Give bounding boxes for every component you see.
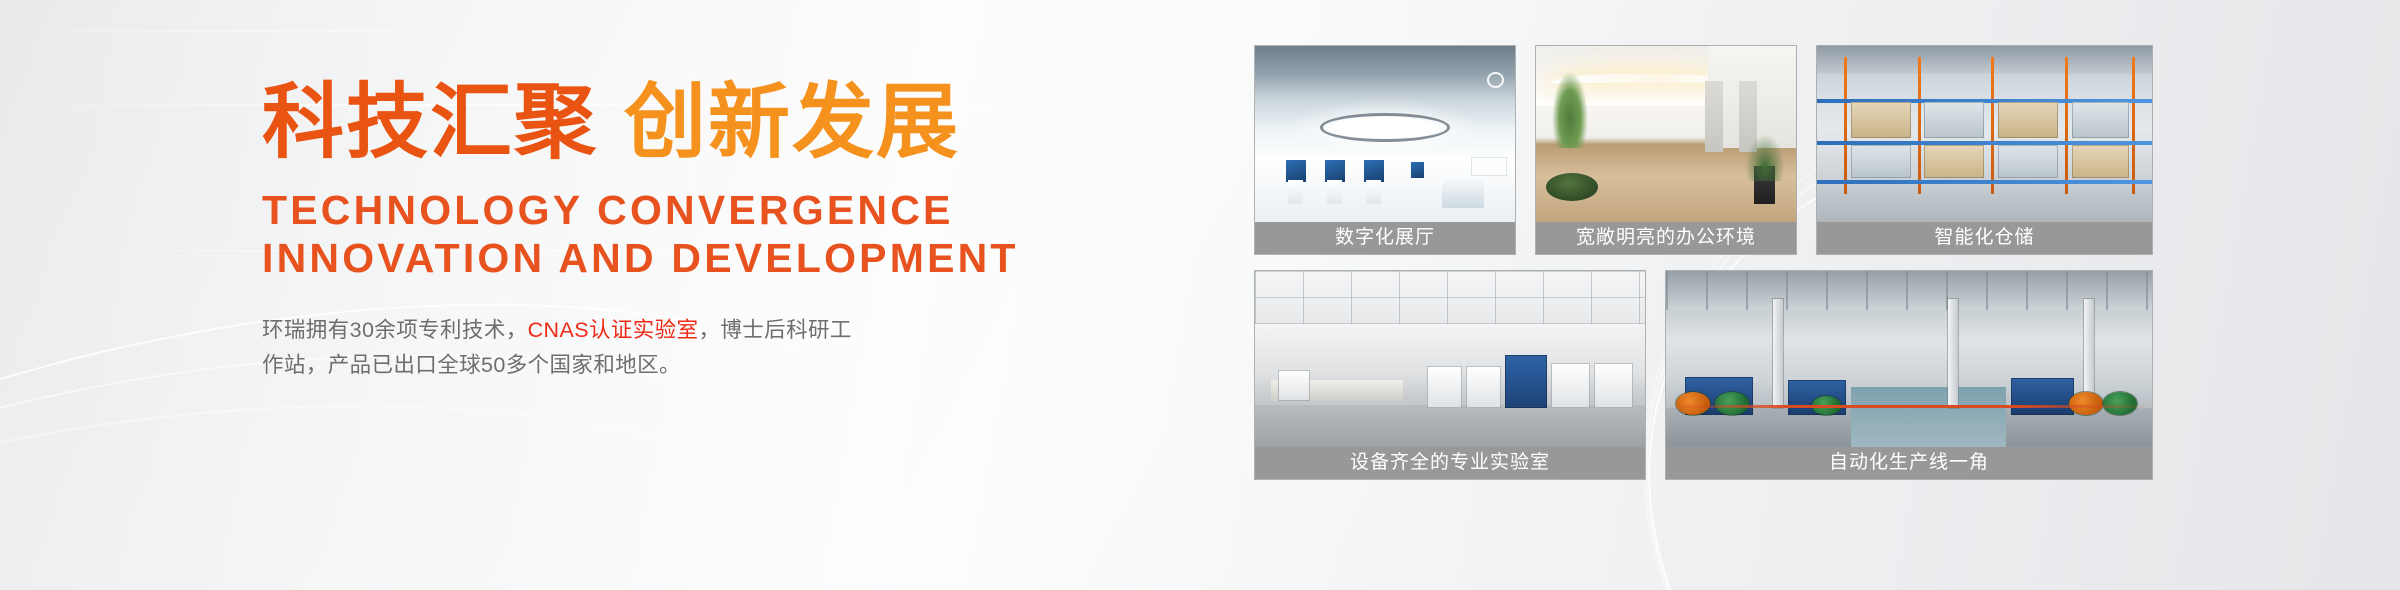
bg-line-vertical-3 [1150, 0, 1152, 360]
facility-photo-grid: 数字化展厅 宽敞明亮的办公环境 [1255, 46, 2355, 546]
subheadline-line-1: TECHNOLOGY CONVERGENCE [262, 186, 1142, 234]
description-segment-1: 环瑞拥有30余项专利技术， [262, 318, 528, 342]
headline-primary: 科技汇聚 [262, 77, 598, 168]
gallery-card-laboratory[interactable]: 设备齐全的专业实验室 [1255, 271, 1645, 479]
gallery-caption: 数字化展厅 [1255, 222, 1515, 254]
gallery-card-production-line[interactable]: 自动化生产线一角 [1666, 271, 2152, 479]
gallery-caption: 宽敞明亮的办公环境 [1536, 222, 1796, 254]
banner-subheadline: TECHNOLOGY CONVERGENCE INNOVATION AND DE… [262, 186, 1142, 283]
gallery-caption: 智能化仓储 [1817, 222, 2152, 254]
production-line-photo [1666, 271, 2152, 447]
digital-showroom-photo [1255, 46, 1515, 222]
gallery-card-digital-showroom[interactable]: 数字化展厅 [1255, 46, 1515, 254]
description-highlight: CNAS认证实验室 [528, 318, 699, 342]
bright-office-photo [1536, 46, 1796, 222]
bg-line-horizontal-3 [0, 30, 520, 32]
gallery-card-warehouse[interactable]: 智能化仓储 [1817, 46, 2152, 254]
banner-description: 环瑞拥有30余项专利技术，CNAS认证实验室，博士后科研工作站，产品已出口全球5… [262, 313, 852, 383]
hero-banner: 科技汇聚创新发展 TECHNOLOGY CONVERGENCE INNOVATI… [0, 0, 2400, 590]
laboratory-photo [1255, 271, 1645, 447]
gallery-caption: 自动化生产线一角 [1666, 447, 2152, 479]
banner-copy: 科技汇聚创新发展 TECHNOLOGY CONVERGENCE INNOVATI… [262, 82, 1142, 382]
gallery-card-office[interactable]: 宽敞明亮的办公环境 [1536, 46, 1796, 254]
headline-secondary: 创新发展 [624, 77, 960, 168]
gallery-caption: 设备齐全的专业实验室 [1255, 447, 1645, 479]
banner-headline: 科技汇聚创新发展 [262, 82, 1142, 164]
smart-warehouse-photo [1817, 46, 2152, 222]
subheadline-line-2: INNOVATION AND DEVELOPMENT [262, 234, 1142, 282]
